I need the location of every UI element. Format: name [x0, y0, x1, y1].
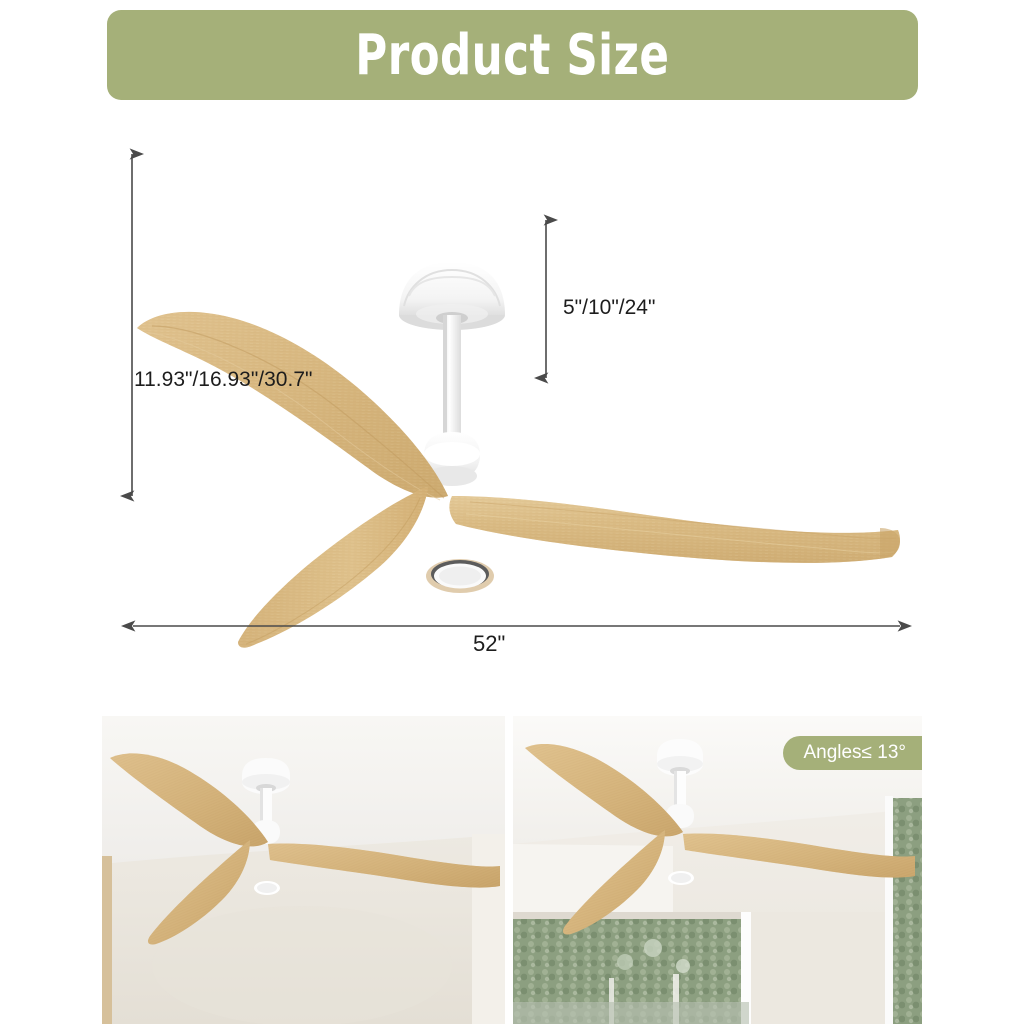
fan-blade-lower-left: [238, 487, 428, 647]
dimension-label-height: 11.93"/16.93"/30.7": [134, 368, 312, 392]
photo-fan-interior-wall: [102, 716, 505, 1024]
fan-diagram-svg: [0, 110, 1024, 690]
angles-badge: Angles≤ 13°: [783, 736, 922, 770]
fan-blade-right: [449, 496, 900, 563]
dimension-label-width: 52": [473, 631, 505, 657]
photo-right-window-main: [513, 912, 753, 1024]
fan-blade-upper-left: [137, 312, 448, 500]
product-dimension-diagram: 11.93"/16.93"/30.7" 5"/10"/24" 52": [0, 110, 1024, 690]
photo-left-svg: [102, 716, 505, 1024]
product-size-banner: Product Size: [107, 10, 918, 100]
angles-badge-label: Angles≤ 13°: [803, 742, 906, 764]
light-kit-disc: [426, 559, 494, 593]
dimension-label-downrod: 5"/10"/24": [563, 296, 655, 320]
photo-right-window-side: [885, 796, 922, 1024]
photo-fan-window-room: Angles≤ 13°: [513, 716, 922, 1024]
lifestyle-photo-row: Angles≤ 13°: [0, 716, 1024, 1024]
page-title: Product Size: [355, 23, 669, 88]
